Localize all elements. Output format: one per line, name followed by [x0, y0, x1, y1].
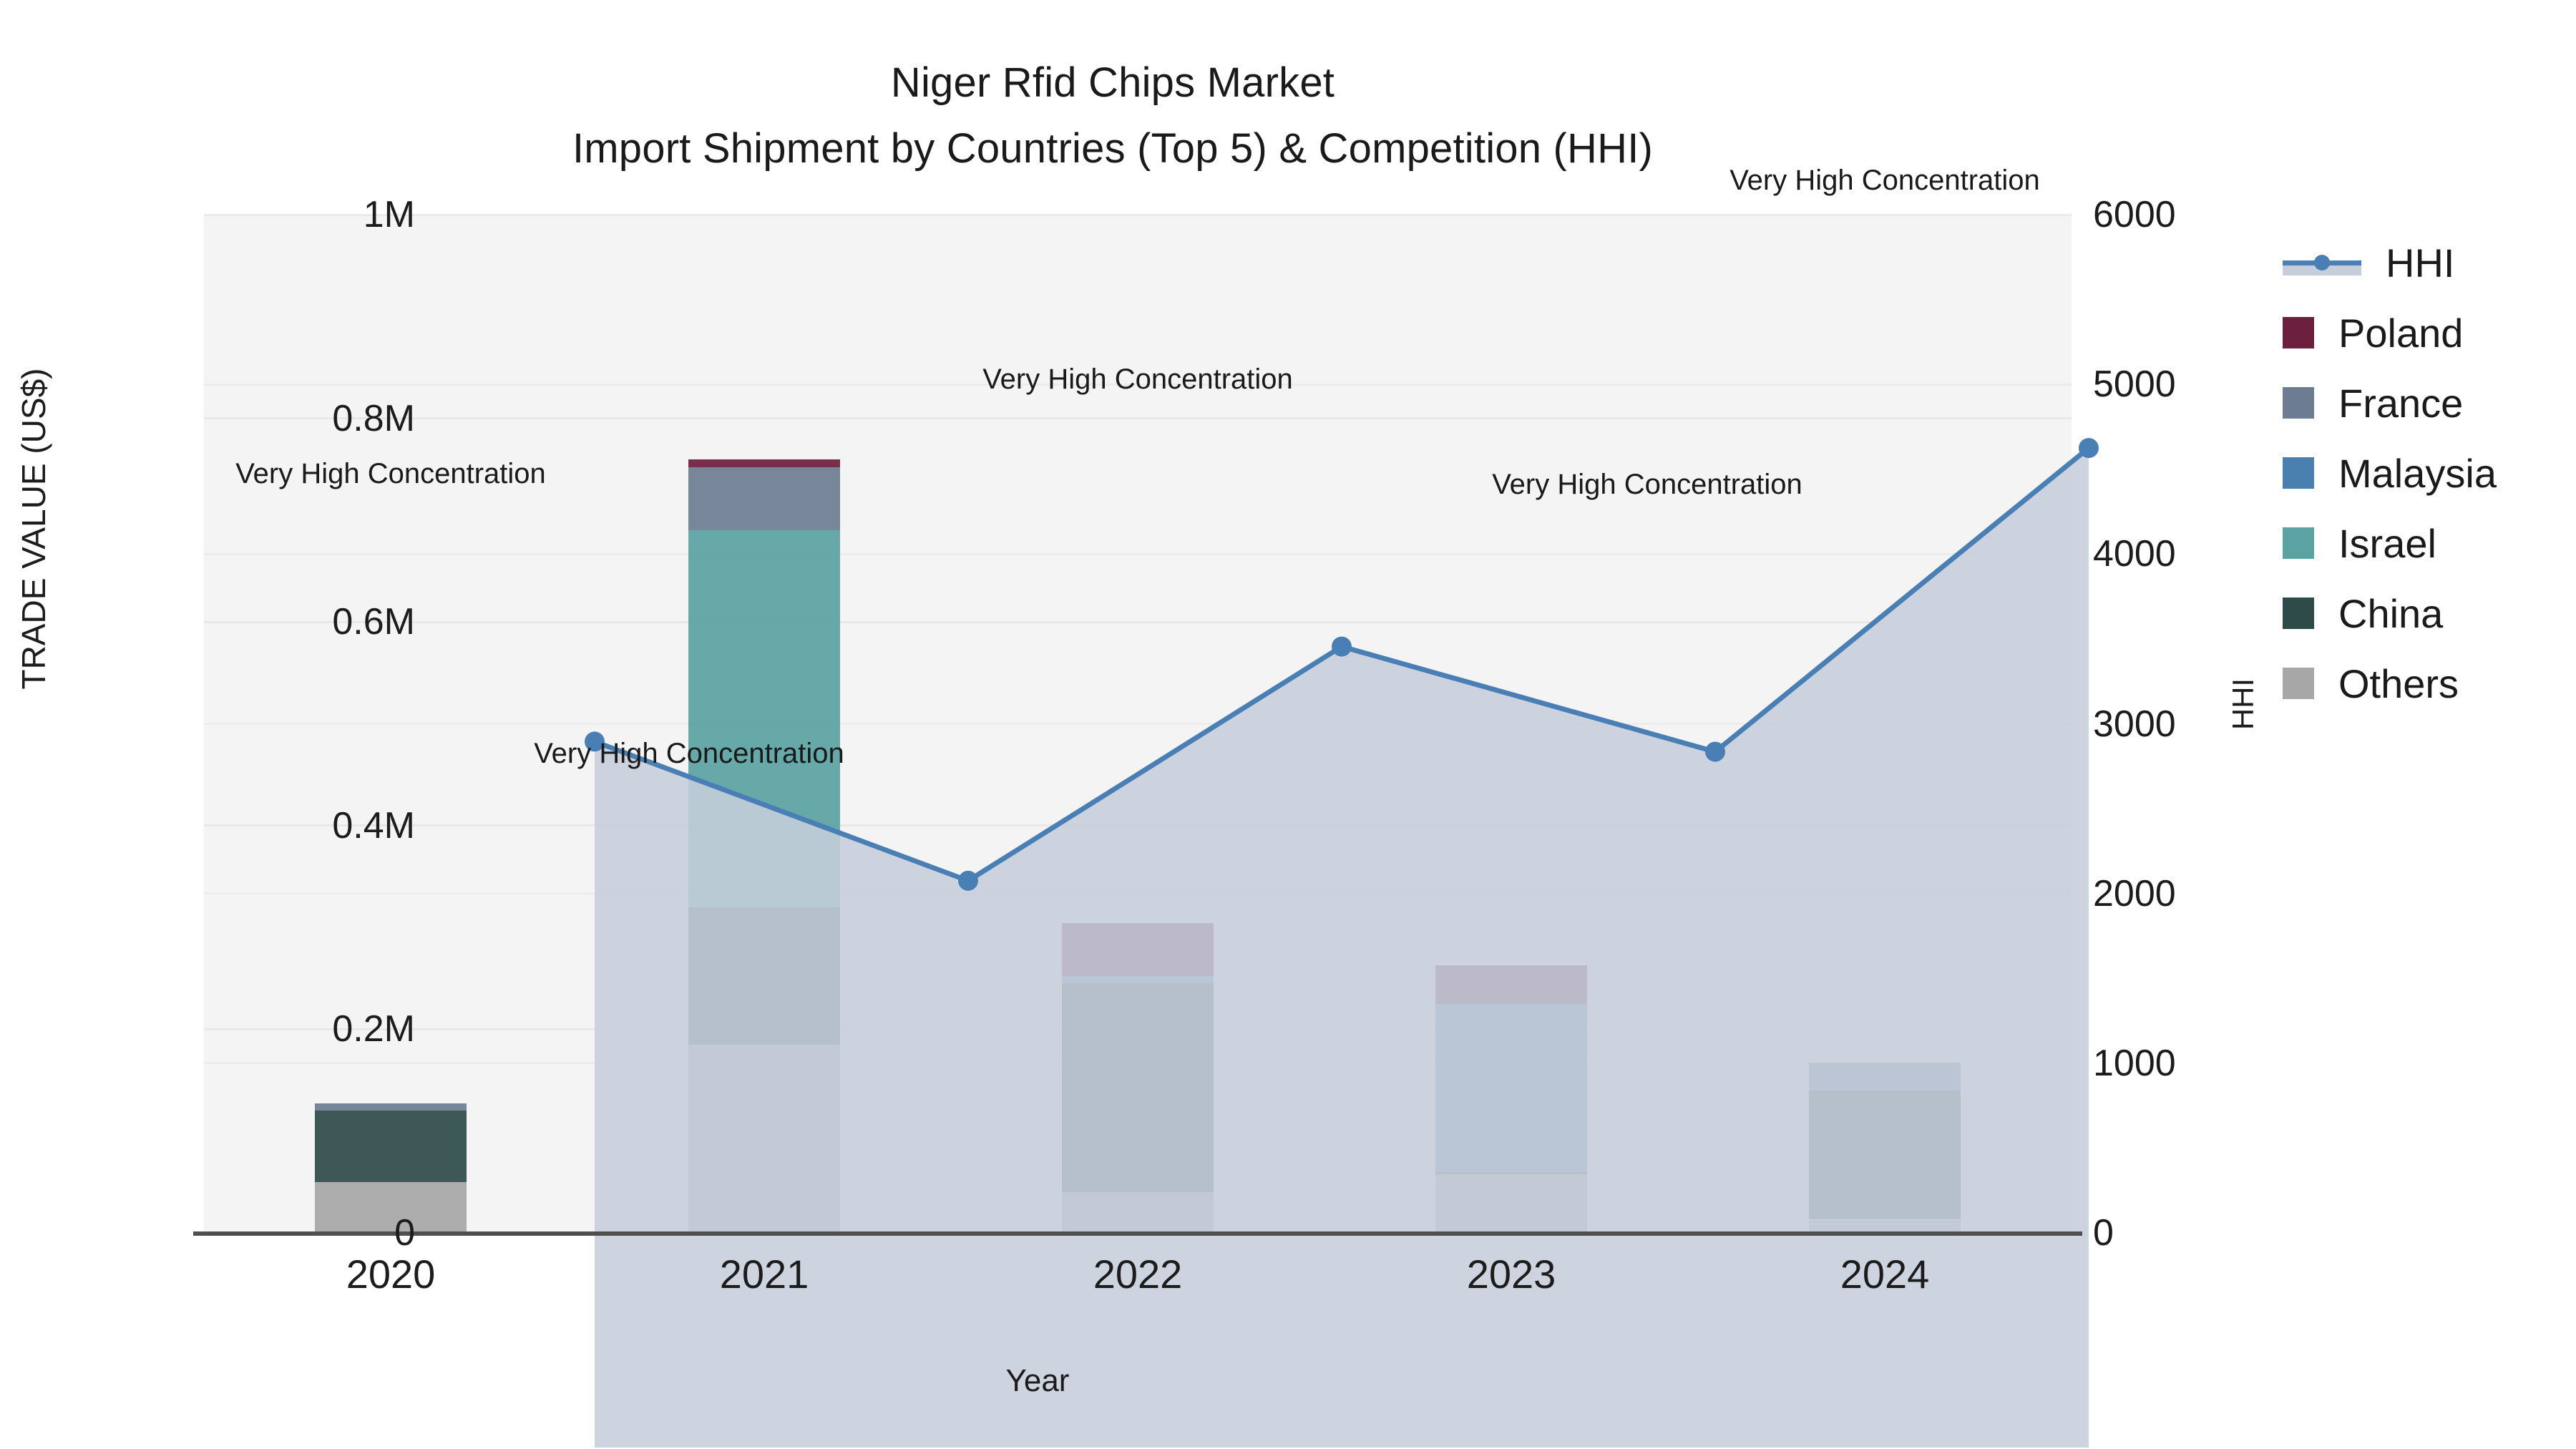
legend-item-label: Others	[2338, 660, 2459, 707]
gridline	[204, 621, 2072, 623]
chart-title-block: Niger Rfid Chips Market Import Shipment …	[0, 50, 2225, 182]
x-axis-tick-2022: 2022	[1093, 1251, 1183, 1297]
y-axis-left-tick: 0.6M	[332, 600, 415, 643]
legend-swatch-icon	[2283, 527, 2314, 559]
legend-swatch-icon	[2283, 668, 2314, 699]
legend-swatch-icon	[2283, 597, 2314, 629]
bar-segment-others[interactable]	[1435, 1174, 1587, 1233]
hhi-marker[interactable]	[958, 871, 978, 891]
x-axis-title: Year	[0, 1363, 2075, 1399]
y-axis-left-tick: 0.2M	[332, 1008, 415, 1050]
bar-segment-others[interactable]	[688, 1045, 840, 1233]
x-axis-tick-2020: 2020	[346, 1251, 436, 1297]
bar-segment-poland[interactable]	[1062, 923, 1214, 976]
annotation-label: Very High Concentration	[235, 458, 546, 490]
y-axis-left-title: TRADE VALUE (US$)	[14, 278, 53, 779]
y-axis-right-title: HHI	[2226, 561, 2260, 847]
y-axis-left-tick: 0	[394, 1211, 415, 1254]
hhi-marker[interactable]	[2079, 438, 2099, 458]
bar-segment-malaysia[interactable]	[1062, 976, 1214, 983]
x-axis-tick-2023: 2023	[1467, 1251, 1556, 1297]
legend-item-malaysia[interactable]: Malaysia	[2283, 438, 2569, 508]
bar-segment-france[interactable]	[688, 467, 840, 530]
hhi-marker[interactable]	[1705, 742, 1725, 762]
y-axis-left-tick: 0.8M	[332, 397, 415, 440]
bar-segment-others[interactable]	[1062, 1192, 1214, 1233]
bar-segment-france[interactable]	[315, 1103, 467, 1111]
page-title: Niger Rfid Chips Market	[0, 50, 2225, 116]
bar-segment-china[interactable]	[688, 907, 840, 1045]
y-axis-left-tick: 0.4M	[332, 804, 415, 847]
legend-swatch-icon	[2283, 317, 2314, 348]
gridline-secondary	[204, 553, 2072, 555]
chart-legend: HHIPolandFranceMalaysiaIsraelChinaOthers	[2283, 228, 2569, 718]
gridline	[204, 824, 2072, 826]
y-axis-right-tick: 0	[2093, 1211, 2114, 1254]
bar-segment-others[interactable]	[315, 1182, 467, 1233]
bar-segment-israel[interactable]	[688, 530, 840, 907]
y-axis-left-tick: 1M	[364, 193, 415, 236]
annotation-label: Very High Concentration	[1492, 469, 1802, 501]
legend-item-others[interactable]: Others	[2283, 648, 2569, 718]
y-axis-right-tick: 1000	[2093, 1042, 2176, 1085]
gridline-secondary	[204, 214, 2072, 216]
legend-swatch-icon	[2283, 387, 2314, 419]
annotation-label: Very High Concentration	[982, 364, 1293, 396]
bar-segment-poland[interactable]	[688, 459, 840, 467]
bar-segment-china[interactable]	[315, 1111, 467, 1182]
x-axis-tick-2024: 2024	[1840, 1251, 1930, 1297]
gridline-secondary	[204, 892, 2072, 894]
bar-segment-china[interactable]	[1062, 983, 1214, 1192]
x-axis-tick-2021: 2021	[720, 1251, 809, 1297]
gridline-secondary	[204, 723, 2072, 725]
x-axis-line	[193, 1231, 2082, 1236]
bar-segment-poland[interactable]	[1435, 965, 1587, 1004]
legend-item-france[interactable]: France	[2283, 368, 2569, 438]
legend-item-label: Poland	[2338, 310, 2463, 356]
gridline	[204, 417, 2072, 419]
chart-root: Niger Rfid Chips Market Import Shipment …	[0, 0, 2576, 1449]
legend-item-israel[interactable]: Israel	[2283, 508, 2569, 578]
bar-segment-malaysia[interactable]	[1809, 1086, 1961, 1091]
y-axis-right-tick: 4000	[2093, 532, 2176, 575]
y-axis-right-tick: 5000	[2093, 363, 2176, 406]
bar-segment-china[interactable]	[1809, 1091, 1961, 1220]
y-axis-right-tick: 2000	[2093, 872, 2176, 915]
bar-segment-china[interactable]	[1435, 1172, 1587, 1174]
legend-item-label: HHI	[2386, 240, 2454, 286]
legend-item-label: Malaysia	[2338, 450, 2497, 497]
y-axis-right-tick: 3000	[2093, 703, 2176, 746]
legend-item-label: France	[2338, 380, 2463, 426]
legend-line-marker-icon	[2283, 247, 2361, 278]
hhi-marker[interactable]	[1332, 637, 1352, 657]
legend-item-poland[interactable]: Poland	[2283, 298, 2569, 368]
legend-item-label: China	[2338, 590, 2443, 637]
y-axis-right-tick: 6000	[2093, 193, 2176, 236]
bar-segment-malaysia[interactable]	[1435, 1004, 1587, 1172]
legend-swatch-icon	[2283, 457, 2314, 489]
legend-item-hhi[interactable]: HHI	[2283, 228, 2569, 298]
annotation-label: Very High Concentration	[534, 738, 844, 770]
legend-item-china[interactable]: China	[2283, 578, 2569, 648]
annotation-label: Very High Concentration	[1729, 165, 2040, 197]
bar-segment-france[interactable]	[1809, 1063, 1961, 1086]
legend-item-label: Israel	[2338, 520, 2436, 567]
